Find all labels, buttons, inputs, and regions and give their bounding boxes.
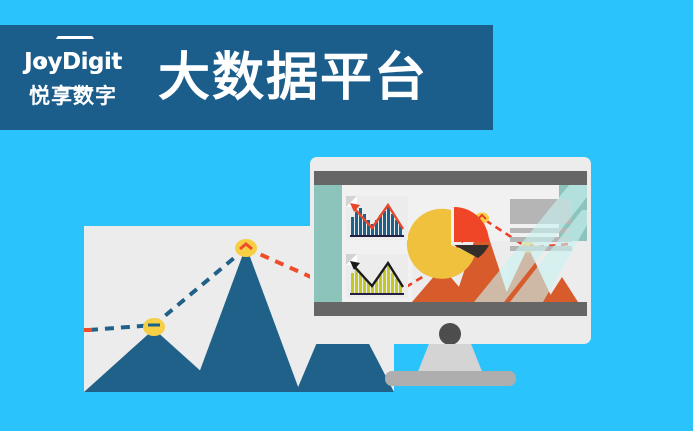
dashboard-svg xyxy=(314,185,587,302)
monitor-bottom-bar xyxy=(314,302,587,316)
pie-slice-secondary xyxy=(454,207,489,242)
mountain-center xyxy=(192,246,300,392)
card-baseline xyxy=(350,235,404,237)
monitor-screen xyxy=(314,185,587,302)
data-marker xyxy=(235,239,257,257)
card-baseline xyxy=(350,293,404,295)
illustration-canvas: JoyDigit 悦享数字 大数据平台 xyxy=(0,0,693,431)
monitor-stand-base xyxy=(385,371,516,386)
bar-chart-card-olive xyxy=(346,254,408,298)
monitor-top-bar xyxy=(314,171,587,185)
desktop-monitor xyxy=(310,157,591,388)
page-title: 大数据平台 xyxy=(158,52,428,104)
brand-logo: JoyDigit 悦享数字 xyxy=(14,32,132,124)
data-marker xyxy=(143,318,165,336)
monitor-power-dot xyxy=(439,323,461,345)
logo-wordmark: JoyDigit xyxy=(24,51,122,74)
header-banner: JoyDigit 悦享数字 大数据平台 xyxy=(0,25,493,130)
monitor-stand-neck xyxy=(417,344,483,374)
logo-subtitle: 悦享数字 xyxy=(29,86,117,107)
bar-chart-card-blue xyxy=(346,196,408,240)
